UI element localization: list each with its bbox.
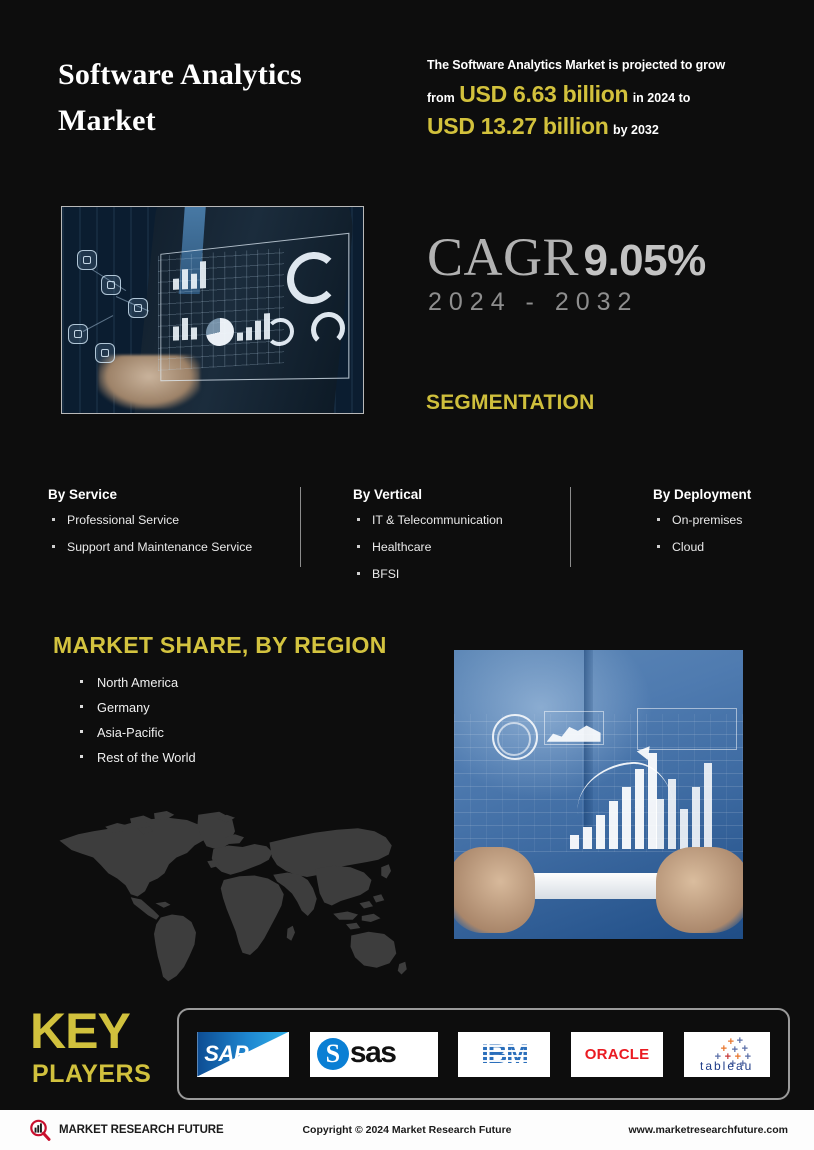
segmentation-column-title: By Vertical <box>353 487 568 502</box>
list-item: BFSI <box>353 567 568 582</box>
cagr-label: CAGR <box>427 227 579 287</box>
ibm-logo-text: IBM <box>458 1032 550 1077</box>
cagr-value: 9.05% <box>583 236 705 285</box>
sas-logo-text: sas <box>350 1036 396 1070</box>
oracle-logo-text: ORACLE <box>571 1032 663 1077</box>
hologram-bar-chart-3 <box>237 313 270 341</box>
headline-stat: The Software Analytics Market is project… <box>427 57 777 139</box>
list-item: Asia-Pacific <box>75 725 196 740</box>
hero-image-tablet-analytics <box>453 649 744 940</box>
list-item: Germany <box>75 700 196 715</box>
footer-brand-name: MARKET RESEARCH FUTURE <box>59 1124 224 1136</box>
segmentation-list: IT & Telecommunication Healthcare BFSI <box>353 513 568 581</box>
hero2-line-chart <box>637 708 737 750</box>
hologram-bar-chart-2 <box>173 313 197 340</box>
tableau-logo: + + + + + + + + + + + tableau <box>684 1032 770 1077</box>
market-share-heading: MARKET SHARE, BY REGION <box>53 632 387 659</box>
hero2-right-hand <box>656 847 744 934</box>
segmentation-divider-2 <box>570 487 571 567</box>
sap-logo-text: SAP <box>204 1041 248 1067</box>
segmentation-list: On-premises Cloud <box>653 513 813 555</box>
cagr-period: 2024 - 2032 <box>428 288 638 317</box>
oracle-logo: ORACLE <box>571 1032 663 1077</box>
footer-website[interactable]: www.marketresearchfuture.com <box>628 1124 788 1136</box>
headline-from-label: from <box>427 91 455 105</box>
headline-by-label: by 2032 <box>613 123 659 137</box>
key-players-label-key: KEY <box>30 1006 130 1056</box>
market-research-future-logo-icon <box>28 1118 52 1142</box>
sas-logo-swirl-icon <box>317 1038 349 1070</box>
list-item: Support and Maintenance Service <box>48 540 293 555</box>
headline-value-2024: USD 6.63 billion <box>459 81 628 107</box>
headline-line-2: from USD 6.63 billion in 2024 to <box>427 82 777 107</box>
segmentation-column-title: By Service <box>48 487 293 502</box>
footer-copyright: Copyright © 2024 Market Research Future <box>302 1124 511 1136</box>
segmentation-column-by-vertical: By Vertical IT & Telecommunication Healt… <box>353 487 568 593</box>
footer: MARKET RESEARCH FUTURE Copyright © 2024 … <box>0 1110 814 1150</box>
segmentation-column-by-service: By Service Professional Service Support … <box>48 487 293 567</box>
hologram-node-icon-4 <box>68 324 88 344</box>
hologram-node-icon-3 <box>128 298 148 318</box>
headline-line-1: The Software Analytics Market is project… <box>427 57 777 74</box>
hologram-node-icon-1 <box>77 250 97 270</box>
list-item: Professional Service <box>48 513 293 528</box>
headline-mid-label: in 2024 to <box>633 91 691 105</box>
list-item: Cloud <box>653 540 813 555</box>
list-item: North America <box>75 675 196 690</box>
segmentation-column-title: By Deployment <box>653 487 813 502</box>
list-item: Rest of the World <box>75 750 196 765</box>
hero2-area-chart <box>544 711 604 745</box>
segmentation-divider-1 <box>300 487 301 567</box>
segmentation-heading: SEGMENTATION <box>426 391 594 415</box>
market-share-region-list: North America Germany Asia-Pacific Rest … <box>75 675 196 775</box>
segmentation-column-by-deployment: By Deployment On-premises Cloud <box>653 487 813 567</box>
footer-brand: MARKET RESEARCH FUTURE <box>28 1118 224 1142</box>
sas-logo: sas <box>310 1032 438 1077</box>
infographic-page: Software Analytics Market The Software A… <box>0 0 814 1150</box>
hologram-bar-chart-1 <box>173 260 206 290</box>
list-item: Healthcare <box>353 540 568 555</box>
hero-image-data-dashboard <box>61 206 364 414</box>
world-map <box>32 805 417 985</box>
hero2-left-hand <box>453 847 535 934</box>
headline-line-3: USD 13.27 billion by 2032 <box>427 114 777 139</box>
headline-value-2032: USD 13.27 billion <box>427 113 609 139</box>
cagr-block: CAGR 9.05% <box>427 226 706 288</box>
sap-logo: SAP <box>197 1032 289 1077</box>
page-title: Software Analytics Market <box>58 52 388 143</box>
segmentation-list: Professional Service Support and Mainten… <box>48 513 293 555</box>
hero2-bar-chart-main <box>570 753 657 849</box>
list-item: On-premises <box>653 513 813 528</box>
hero2-bar-chart-secondary <box>656 763 712 849</box>
key-players-label-players: PLAYERS <box>32 1062 151 1087</box>
list-item: IT & Telecommunication <box>353 513 568 528</box>
ibm-logo: IBM <box>458 1032 550 1077</box>
tableau-logo-text: tableau <box>684 1059 770 1073</box>
key-players-logo-box: SAP sas IBM ORACLE + + + + + + + + + + +… <box>177 1008 790 1100</box>
hologram-node-icon-5 <box>95 343 115 363</box>
